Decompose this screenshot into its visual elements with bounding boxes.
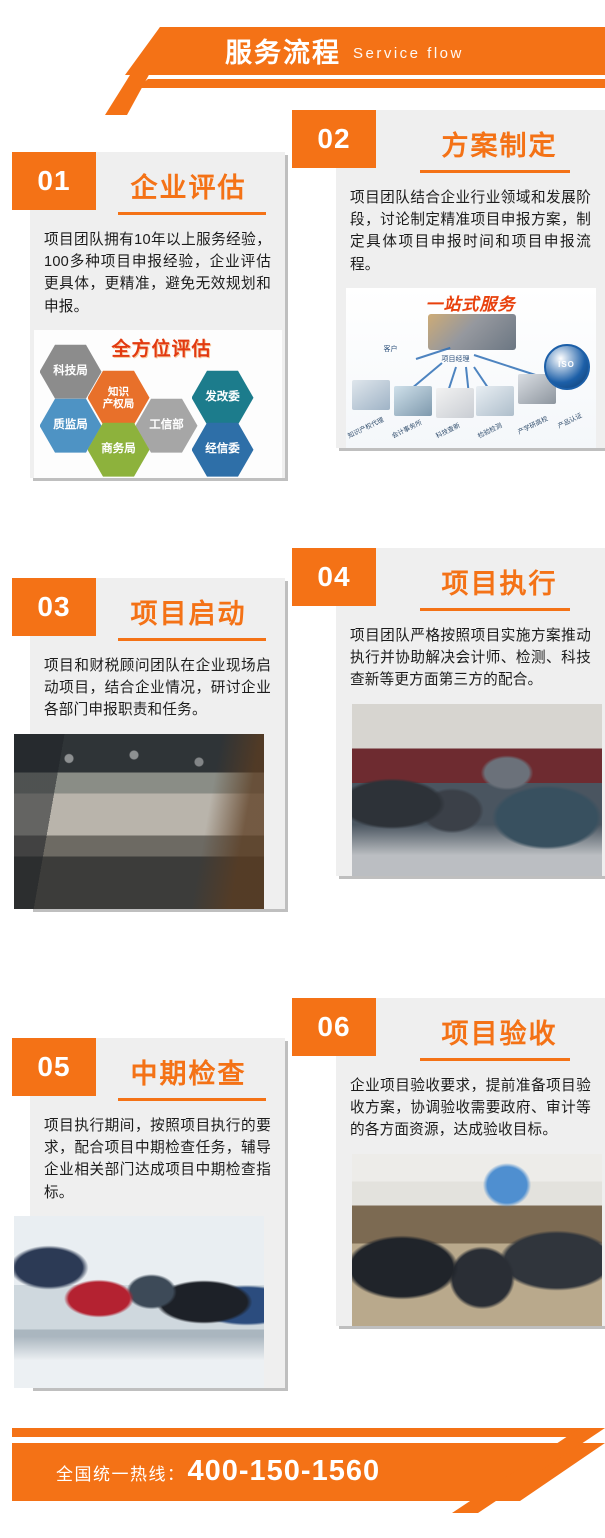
step-card-body: 项目执行 项目团队严格按照项目实施方案推动执行并协助解决会计师、检测、科技查新等… [336, 548, 605, 876]
footer-thin-stripe [12, 1428, 605, 1437]
hexagon-assessment-chart: 全方位评估 科技局 知识 产权局 质监局 工信部 商务局 发改委 经信委 [34, 330, 282, 478]
hexagon-jingxin-wei: 经信委 [192, 422, 254, 478]
page-subtitle: Service flow [353, 46, 464, 61]
header-thin-stripe [0, 79, 605, 88]
step-number-badge: 06 [292, 998, 376, 1056]
step-number-badge: 02 [292, 110, 376, 168]
step-number-badge: 01 [12, 152, 96, 210]
hexagon-chart-title: 全方位评估 [112, 334, 212, 361]
photo-boardroom-acceptance [352, 1154, 602, 1326]
step-number-badge: 03 [12, 578, 96, 636]
photo-detail [352, 1154, 602, 1326]
diagram-node-photo [476, 386, 514, 416]
step-card-body: 项目验收 企业项目验收要求，提前准备项目验收方案，协调验收需要政府、审计等的各方… [336, 998, 605, 1326]
diagram-node-photo [352, 380, 390, 410]
step-card-04[interactable]: 04 项目执行 项目团队严格按照项目实施方案推动执行并协助解决会计师、检测、科技… [292, 548, 565, 882]
photo-detail [14, 734, 264, 909]
step-card-body: 方案制定 项目团队结合企业行业领域和发展阶段，讨论制定精准项目申报方案，制定具体… [336, 110, 605, 448]
diagram-label-client: 客户 [384, 344, 398, 354]
hotline-number[interactable]: 400-150-1560 [188, 1455, 381, 1488]
step-description: 项目团队拥有10年以上服务经验，100多种项目申报经验，企业评估更具体，更精准，… [30, 215, 285, 330]
diagram-node-label: 产学研高校 [515, 412, 549, 435]
diagram-node-label: 会计事务所 [389, 416, 423, 439]
step-card-03[interactable]: 03 项目启动 项目和财税顾问团队在企业现场启动项目，结合企业情况，研讨企业各部… [12, 578, 285, 915]
step-card-06[interactable]: 06 项目验收 企业项目验收要求，提前准备项目验收方案，协调验收需要政府、审计等… [292, 998, 565, 1332]
one-stop-service-diagram: 一站式服务 客户 项目经理 ISO 知识产权代理 会计事务所 科技查新 检验检测 [346, 288, 596, 448]
step-title: 方案制定 [336, 114, 605, 163]
photo-site-visit-group [14, 1216, 264, 1388]
diagram-node-label: 检验检测 [475, 419, 503, 439]
step-description: 企业项目验收要求，提前准备项目验收方案，协调验收需要政府、审计等的各方面资源，达… [336, 1061, 605, 1154]
photo-detail [14, 1216, 264, 1388]
page-title: 服务流程 [225, 40, 341, 67]
hexagon-fagai-wei: 发改委 [192, 370, 254, 426]
header-title-group: 服务流程 Service flow [225, 33, 464, 73]
footer-hotline-group: 全国统一热线： 400-150-1560 [56, 1455, 380, 1488]
step-card-01[interactable]: 01 企业评估 项目团队拥有10年以上服务经验，100多种项目申报经验，企业评估… [12, 152, 285, 490]
step-card-05[interactable]: 05 中期检查 项目执行期间，按照项目执行的要求，配合项目中期检查任务，辅导企业… [12, 1038, 285, 1394]
step-description: 项目团队严格按照项目实施方案推动执行并协助解决会计师、检测、科技查新等更方面第三… [336, 611, 605, 704]
diagram-node-label: 科技查新 [433, 419, 461, 439]
step-description: 项目团队结合企业行业领域和发展阶段，讨论制定精准项目申报方案，制定具体项目申报时… [336, 173, 605, 288]
photo-conference-room-meeting [14, 734, 264, 909]
photo-detail [352, 704, 602, 876]
diagram-hub-photo [428, 314, 516, 350]
diagram-node-photo [394, 386, 432, 416]
iso-seal-icon: ISO [544, 344, 590, 390]
diagram-node-label: 产品认证 [555, 409, 583, 429]
step-title: 项目执行 [336, 552, 605, 601]
page-footer: 全国统一热线： 400-150-1560 [0, 1428, 605, 1538]
step-number-badge: 04 [292, 548, 376, 606]
photo-team-working-laptops [352, 704, 602, 876]
page-header: 服务流程 Service flow [0, 0, 605, 110]
diagram-node-photo [436, 388, 474, 418]
step-description: 项目执行期间，按照项目执行的要求，配合项目中期检查任务，辅导企业相关部门达成项目… [30, 1101, 285, 1216]
step-number-badge: 05 [12, 1038, 96, 1096]
step-description: 项目和财税顾问团队在企业现场启动项目，结合企业情况，研讨企业各部门申报职责和任务… [30, 641, 285, 734]
step-title: 项目验收 [336, 1002, 605, 1051]
diagram-label-manager: 项目经理 [442, 354, 470, 364]
hotline-label: 全国统一热线： [56, 1460, 186, 1485]
diagram-node-label: 知识产权代理 [346, 414, 385, 440]
step-card-02[interactable]: 02 方案制定 项目团队结合企业行业领域和发展阶段，讨论制定精准项目申报方案，制… [292, 110, 565, 458]
